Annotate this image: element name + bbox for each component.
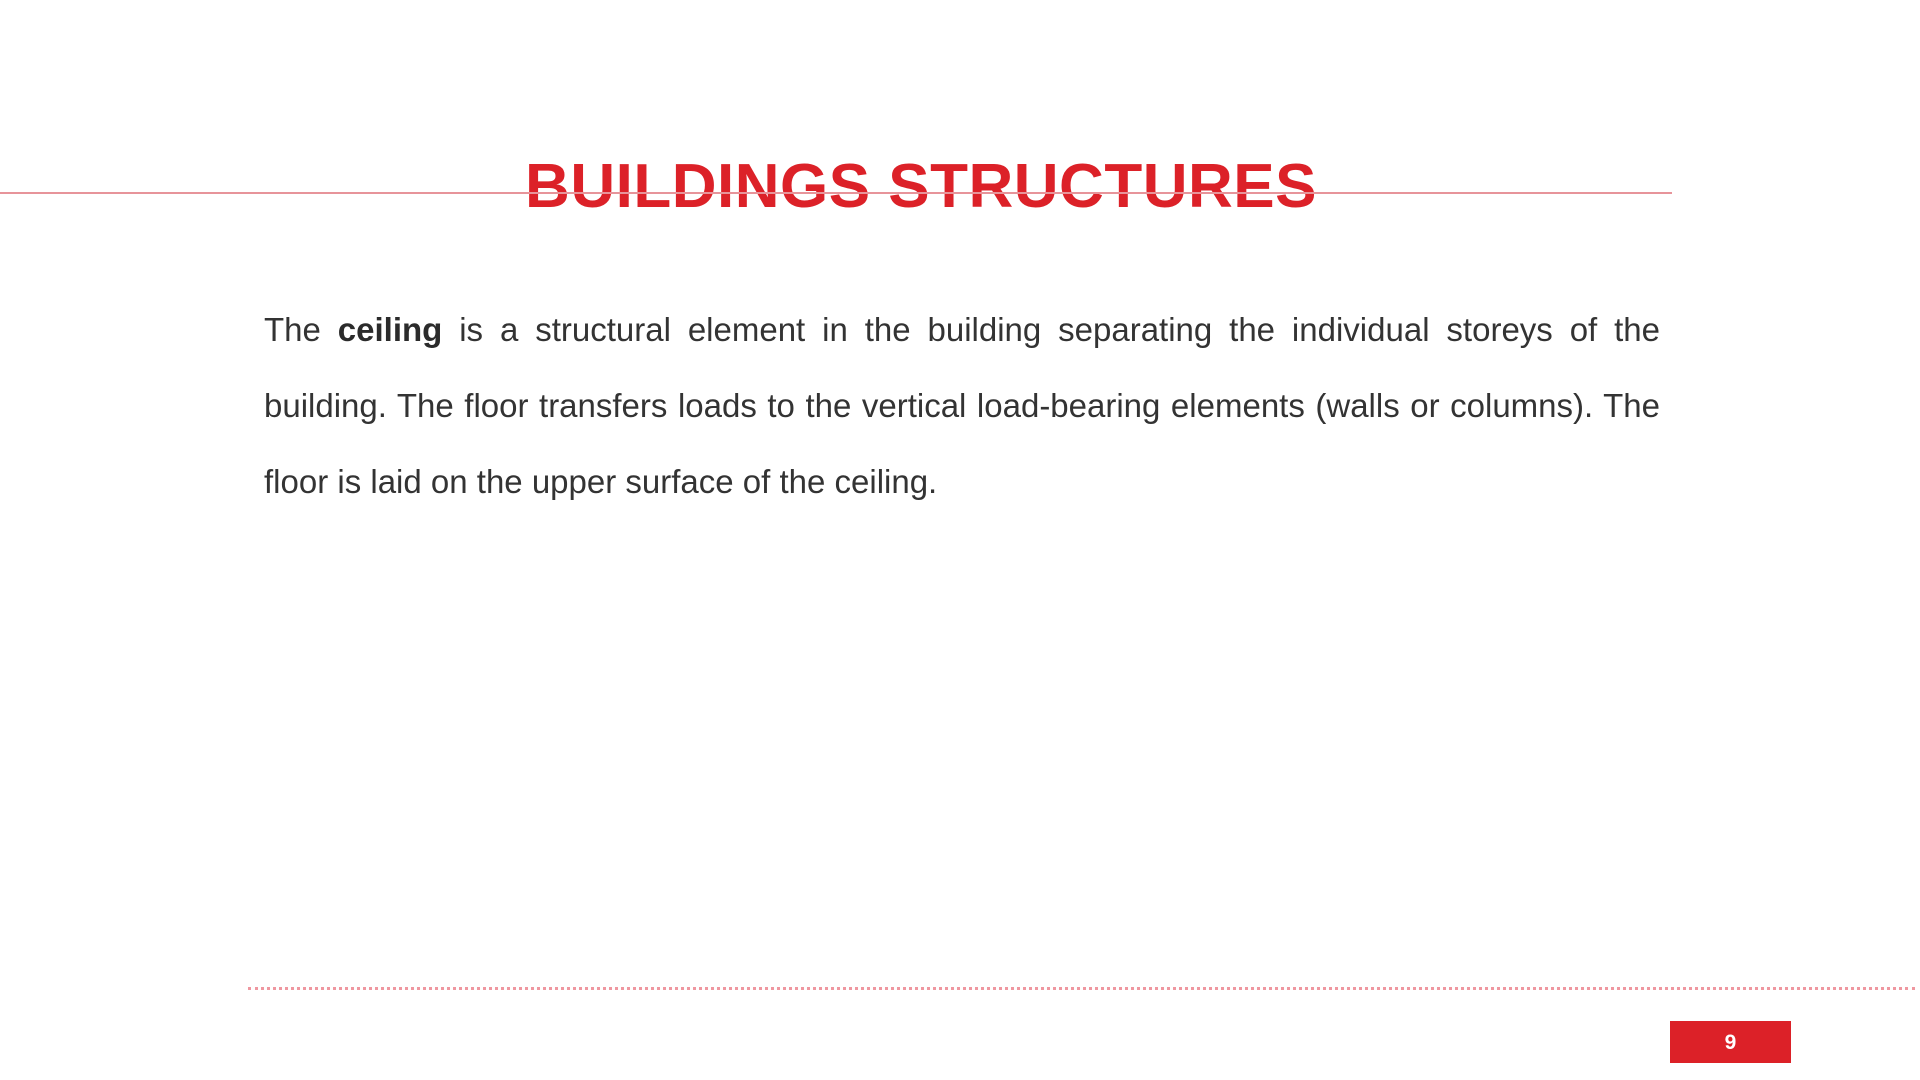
paragraph-rest-text: is a structural element in the building … <box>264 311 1660 500</box>
title-divider <box>0 192 1672 194</box>
page-title: BUILDINGS STRUCTURES <box>0 150 1842 224</box>
page-number-badge: 9 <box>1670 1021 1791 1063</box>
body-content-block: The ceiling is a structural element in t… <box>264 292 1660 520</box>
paragraph-emphasis-term: ceiling <box>338 311 443 348</box>
footer-divider <box>248 987 1915 990</box>
presentation-slide: BUILDINGS STRUCTURES The ceiling is a st… <box>0 0 1920 1080</box>
paragraph-lead-text: The <box>264 311 338 348</box>
page-number-label: 9 <box>1725 1032 1737 1053</box>
body-paragraph: The ceiling is a structural element in t… <box>264 292 1660 520</box>
